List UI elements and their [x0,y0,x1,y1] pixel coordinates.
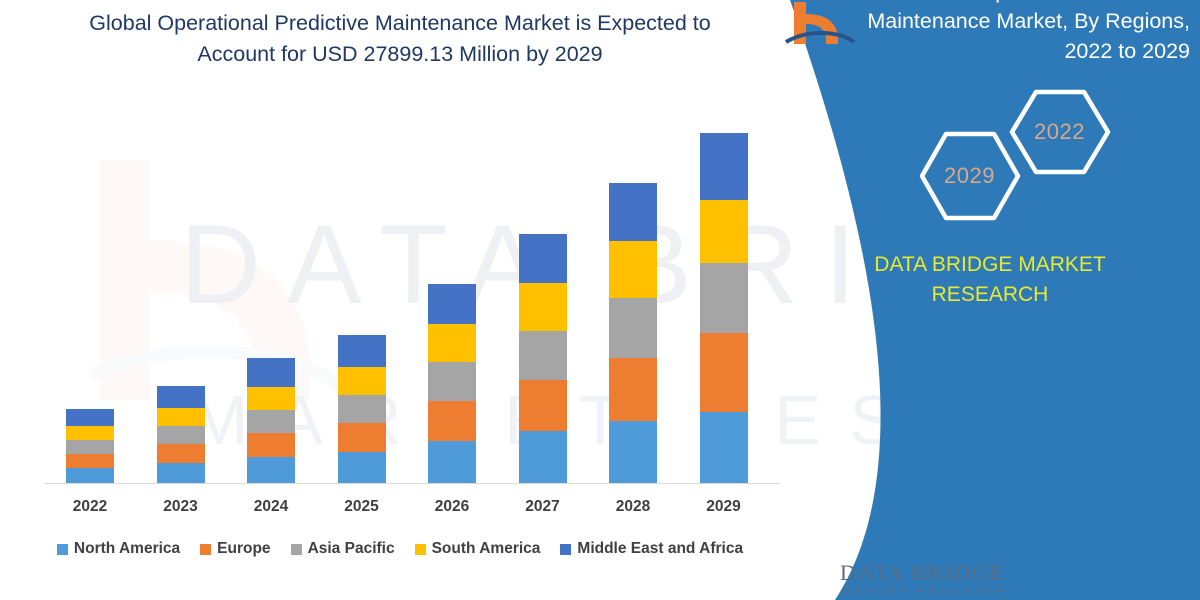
legend-item-europe[interactable]: Europe [200,540,270,558]
legend-item-asia-pacific[interactable]: Asia Pacific [291,540,395,558]
hexagon-label-2029: 2029 [944,163,995,189]
bar-segment-north-america-2022[interactable] [66,468,114,483]
bar-segment-south-america-2024[interactable] [247,387,295,410]
bar-segment-asia-pacific-2022[interactable] [66,440,114,454]
x-axis-label-2026: 2026 [407,498,497,516]
bar-segment-north-america-2023[interactable] [157,463,205,483]
x-axis-label-2029: 2029 [679,498,769,516]
page-title-line1: Global Operational Predictive Maintenanc… [89,11,710,35]
legend-label: Europe [217,540,270,558]
bar-segment-middle-east-and-africa-2024[interactable] [247,358,295,387]
bar-segment-asia-pacific-2028[interactable] [609,298,657,358]
bar-2025[interactable] [338,335,386,483]
bar-segment-north-america-2025[interactable] [338,452,386,483]
bar-segment-europe-2024[interactable] [247,433,295,457]
legend-swatch-icon [200,544,211,555]
hexagon-outlines-icon [888,88,1118,228]
bar-segment-europe-2023[interactable] [157,444,205,463]
bar-2029[interactable] [700,133,748,483]
footer-logo-text: DATA BRIDGE [840,560,1005,586]
page-title-line2: Account for USD 27899.13 Million by 2029 [197,42,602,66]
bar-segment-middle-east-and-africa-2026[interactable] [428,284,476,324]
bar-2023[interactable] [157,386,205,483]
bar-segment-south-america-2022[interactable] [66,426,114,440]
chart-region: Global Operational Predictive Maintenanc… [0,0,800,600]
bar-2026[interactable] [428,284,476,483]
legend-label: Asia Pacific [308,540,395,558]
legend-swatch-icon [291,544,302,555]
bar-2027[interactable] [519,234,567,483]
bar-segment-middle-east-and-africa-2027[interactable] [519,234,567,283]
legend-label: Middle East and Africa [577,540,743,558]
bar-segment-middle-east-and-africa-2022[interactable] [66,409,114,426]
bar-segment-europe-2028[interactable] [609,358,657,421]
bar-segment-north-america-2028[interactable] [609,421,657,483]
bar-segment-middle-east-and-africa-2028[interactable] [609,183,657,241]
legend-item-middle-east-and-africa[interactable]: Middle East and Africa [560,540,743,558]
brand-name: DATA BRIDGE MARKET RESEARCH [840,250,1140,310]
bar-segment-asia-pacific-2024[interactable] [247,410,295,433]
hexagon-label-2022: 2022 [1034,119,1085,145]
bar-segment-asia-pacific-2023[interactable] [157,426,205,444]
bar-segment-asia-pacific-2029[interactable] [700,263,748,333]
x-axis-label-2023: 2023 [136,498,226,516]
footer-logo-icon [780,0,1040,46]
panel-title-line3: 2022 to 2029 [1064,39,1190,63]
bar-segment-north-america-2026[interactable] [428,441,476,483]
x-axis-label-2028: 2028 [588,498,678,516]
bar-2028[interactable] [609,183,657,483]
bar-segment-north-america-2027[interactable] [519,431,567,483]
legend-label: North America [74,540,180,558]
legend-swatch-icon [415,544,426,555]
footer-logo-subtext: MARKET RESEARCH [842,586,1009,597]
bar-segment-asia-pacific-2027[interactable] [519,331,567,380]
brand-panel: Global Operational Predictive Maintenanc… [780,0,1200,600]
bar-segment-europe-2025[interactable] [338,423,386,452]
bar-segment-europe-2026[interactable] [428,401,476,441]
bar-segment-asia-pacific-2025[interactable] [338,395,386,423]
legend-label: South America [432,540,541,558]
page-title: Global Operational Predictive Maintenanc… [20,8,780,70]
legend-swatch-icon [57,544,68,555]
bar-segment-europe-2027[interactable] [519,380,567,431]
chart-legend: North AmericaEuropeAsia PacificSouth Ame… [0,540,800,558]
bar-segment-north-america-2029[interactable] [700,412,748,483]
bar-segment-north-america-2024[interactable] [247,457,295,483]
bar-segment-south-america-2029[interactable] [700,200,748,263]
bar-segment-middle-east-and-africa-2029[interactable] [700,133,748,200]
bar-2022[interactable] [66,409,114,483]
bar-segment-middle-east-and-africa-2023[interactable] [157,386,205,408]
legend-swatch-icon [560,544,571,555]
bar-segment-middle-east-and-africa-2025[interactable] [338,335,386,367]
hexagon-group: 2022 2029 [888,88,1118,228]
bar-segment-europe-2029[interactable] [700,333,748,412]
x-axis-label-2024: 2024 [226,498,316,516]
x-axis-label-2025: 2025 [317,498,407,516]
x-axis-line [45,483,780,484]
brand-line2: RESEARCH [932,283,1049,306]
legend-item-north-america[interactable]: North America [57,540,180,558]
bar-2024[interactable] [247,358,295,483]
infographic-canvas: DATA BRIDGE MARKET RESEARCH Global Opera… [0,0,1200,600]
bar-segment-south-america-2028[interactable] [609,241,657,298]
bar-segment-south-america-2025[interactable] [338,367,386,395]
x-axis-label-2027: 2027 [498,498,588,516]
brand-line1: DATA BRIDGE MARKET [874,253,1105,276]
x-axis-label-2022: 2022 [45,498,135,516]
legend-item-south-america[interactable]: South America [415,540,541,558]
bar-segment-europe-2022[interactable] [66,454,114,468]
bar-segment-south-america-2026[interactable] [428,324,476,362]
bar-segment-south-america-2027[interactable] [519,283,567,331]
bar-segment-south-america-2023[interactable] [157,408,205,426]
bar-segment-asia-pacific-2026[interactable] [428,362,476,401]
